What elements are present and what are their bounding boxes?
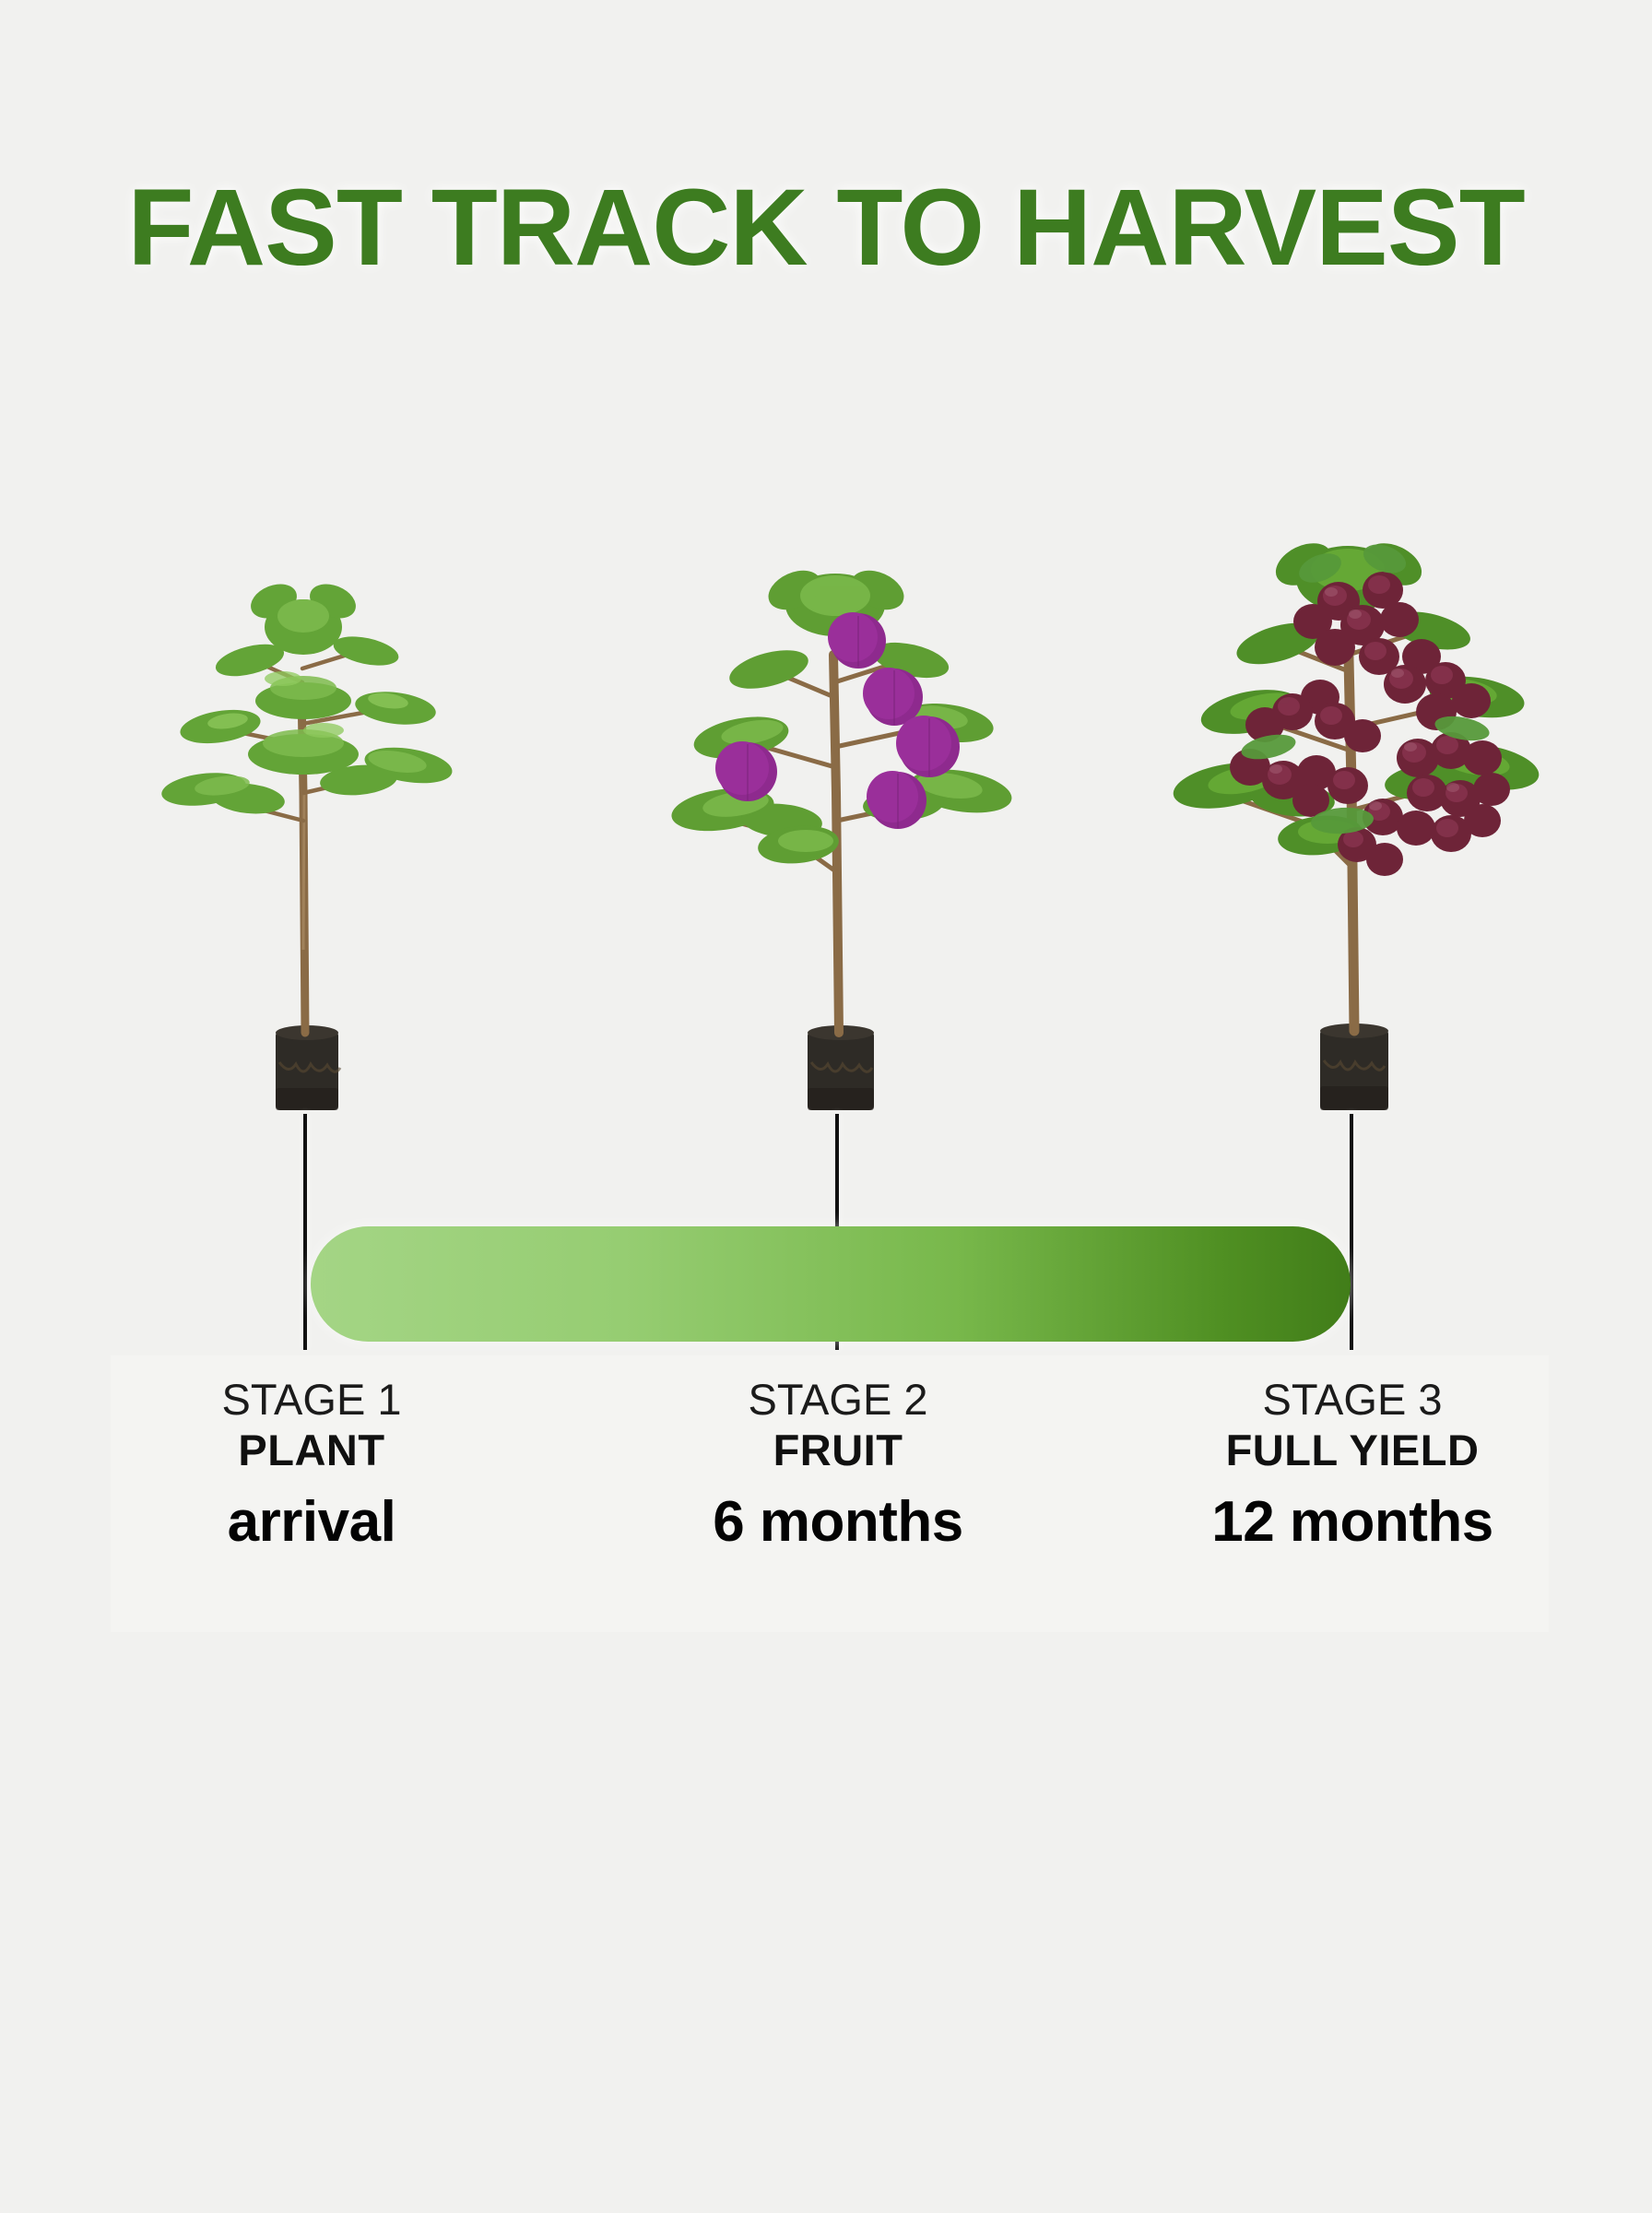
tick-stage-3: [1350, 1114, 1353, 1350]
stage-time-1: arrival: [100, 1491, 524, 1554]
page-title: FAST TRACK TO HARVEST: [0, 173, 1652, 282]
stage-label-2: STAGE 2 FRUIT 6 months: [626, 1374, 1050, 1554]
timeline-progress-bar: [311, 1226, 1351, 1342]
fruiting-tree-icon: [643, 516, 1031, 1125]
tree-row: [0, 516, 1652, 1125]
sapling-tree-icon: [112, 516, 499, 1125]
stage-name-3: FULL YIELD: [1140, 1425, 1564, 1475]
stage-label-3: STAGE 3 FULL YIELD 12 months: [1140, 1374, 1564, 1554]
tree-stage-2: [643, 516, 1031, 1125]
stage-name-1: PLANT: [100, 1425, 524, 1475]
stage-labels: STAGE 1 PLANT arrival STAGE 2 FRUIT 6 mo…: [0, 1374, 1652, 1651]
stage-label-1: STAGE 1 PLANT arrival: [100, 1374, 524, 1554]
tick-stage-1: [303, 1114, 307, 1350]
stage-time-2: 6 months: [626, 1491, 1050, 1554]
tree-stage-1: [112, 516, 499, 1125]
stage-name-2: FRUIT: [626, 1425, 1050, 1475]
infographic-canvas: FAST TRACK TO HARVEST: [0, 0, 1652, 2213]
full-yield-tree-icon: [1158, 516, 1545, 1125]
stage-number-2: STAGE 2: [626, 1374, 1050, 1425]
stage-number-3: STAGE 3: [1140, 1374, 1564, 1425]
stage-time-3: 12 months: [1140, 1491, 1564, 1554]
stage-number-1: STAGE 1: [100, 1374, 524, 1425]
tree-stage-3: [1158, 516, 1545, 1125]
